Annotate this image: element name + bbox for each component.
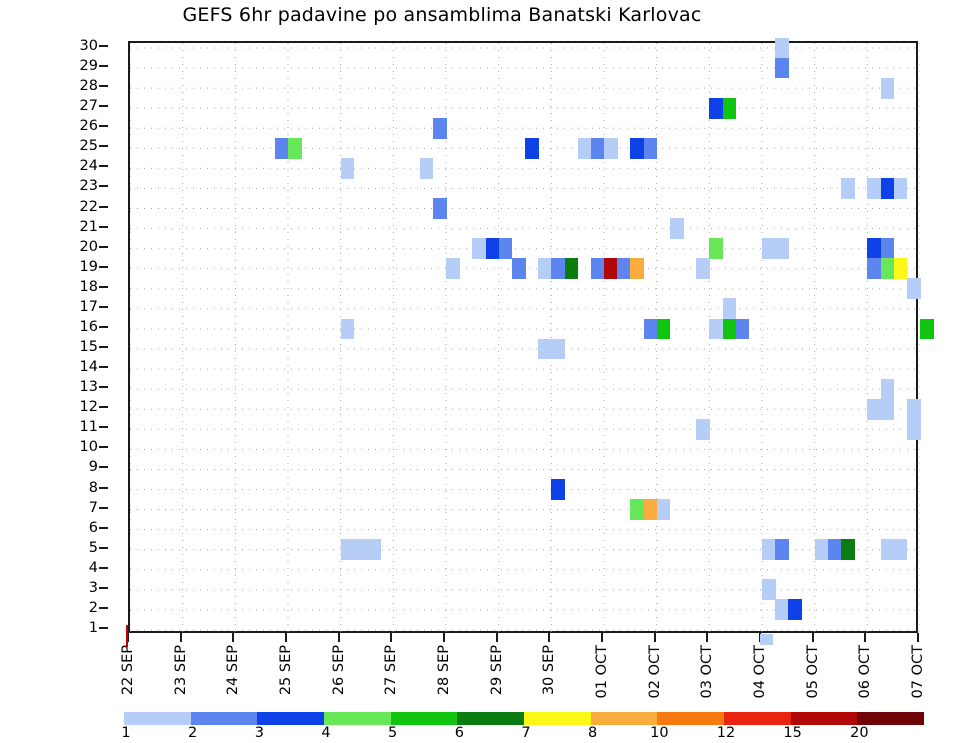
x-tick-label: 23 SEP [174,645,189,695]
colorbar-band [124,712,191,725]
y-tick-mark [99,45,108,47]
colorbar-band [657,712,724,725]
x-tick-mark [706,633,708,642]
y-tick-mark [99,85,108,87]
colorbar-tick-label: 2 [188,726,197,741]
y-tick-mark [99,326,108,328]
y-tick-label: 21 [80,219,98,234]
heatmap-cell [709,319,723,340]
axis-cell-marker [760,634,773,645]
colorbar-tick-label: 7 [521,726,530,741]
y-tick-label: 24 [80,159,98,174]
y-tick-mark [99,145,108,147]
y-tick-mark [99,125,108,127]
y-tick-mark [99,406,108,408]
heatmap-cell [354,539,368,560]
y-tick-mark [99,426,108,428]
heatmap-cell [841,539,855,560]
chart-title: GEFS 6hr padavine po ansamblima Banatski… [0,4,922,26]
heatmap-cell [881,399,895,420]
heatmap-cell [617,258,631,279]
heatmap-cell [538,339,552,360]
y-tick-label: 20 [80,239,98,254]
y-tick-label: 3 [89,581,98,596]
heatmap-cell [433,118,447,139]
heatmap-cell [512,258,526,279]
heatmap-cell [472,238,486,259]
x-tick-label: 29 SEP [490,645,505,695]
colorbar-tick-label: 10 [650,726,668,741]
x-tick-label: 07 OCT [911,645,926,698]
x-tick-label: 27 SEP [384,645,399,695]
x-tick-mark [443,633,445,642]
colorbar-band [324,712,391,725]
heatmap-cell [881,379,895,400]
y-tick-label: 17 [80,300,98,315]
heatmap-cell [525,138,539,159]
colorbar-legend: 1234567810121520 [124,712,924,742]
y-tick-mark [99,105,108,107]
y-tick-label: 13 [80,380,98,395]
x-tick-mark [180,633,182,642]
heatmap-cell [828,539,842,560]
x-tick-mark [601,633,603,642]
y-tick-mark [99,286,108,288]
y-tick-mark [99,547,108,549]
colorbar-band [524,712,591,725]
y-tick-mark [99,185,108,187]
x-tick-label: 01 OCT [595,645,610,698]
y-tick-mark [99,346,108,348]
y-tick-mark [99,306,108,308]
y-tick-mark [99,446,108,448]
heatmap-cell [644,138,658,159]
y-tick-label: 29 [80,59,98,74]
y-tick-mark [99,507,108,509]
colorbar-tick-label: 15 [783,726,801,741]
heatmap-cell [709,98,723,119]
y-tick-mark [99,627,108,629]
y-tick-mark [99,487,108,489]
y-tick-label: 16 [80,320,98,335]
y-tick-label: 19 [80,260,98,275]
heatmap-cell [446,258,460,279]
colorbar-tick-label: 5 [388,726,397,741]
heatmap-cell [578,138,592,159]
heatmap-cell [775,238,789,259]
heatmap-cell [841,178,855,199]
x-tick-label: 03 OCT [700,645,715,698]
x-tick-label: 02 OCT [648,645,663,698]
heatmap-cell [644,319,658,340]
colorbar-band [857,712,924,725]
colorbar-band [591,712,658,725]
heatmap-cell [630,499,644,520]
y-tick-label: 27 [80,99,98,114]
heatmap-cell [565,258,579,279]
heatmap-cell [604,138,618,159]
heatmap-cells [130,43,916,631]
heatmap-cell [630,138,644,159]
y-tick-label: 10 [80,440,98,455]
heatmap-cell [920,319,934,340]
heatmap-cell [551,339,565,360]
heatmap-cell [894,539,908,560]
colorbar-band [791,712,858,725]
colorbar-band [391,712,458,725]
heatmap-cell [341,158,355,179]
heatmap-cell [815,539,829,560]
heatmap-cell [604,258,618,279]
heatmap-cell [736,319,750,340]
heatmap-cell [867,178,881,199]
y-tick-mark [99,165,108,167]
heatmap-cell [907,399,921,420]
x-tick-label: 28 SEP [437,645,452,695]
colorbar-tick-label: 6 [455,726,464,741]
heatmap-cell [894,258,908,279]
heatmap-cell [367,539,381,560]
heatmap-cell [762,238,776,259]
heatmap-cell [591,258,605,279]
heatmap-cell [775,38,789,59]
heatmap-cell [788,599,802,620]
heatmap-cell [775,599,789,620]
y-tick-label: 11 [80,420,98,435]
heatmap-cell [630,258,644,279]
y-tick-mark [99,366,108,368]
heatmap-cell [762,539,776,560]
heatmap-cell [867,399,881,420]
meteogram-chart: GEFS 6hr padavine po ansamblima Banatski… [0,0,960,742]
colorbar-tick-label: 4 [321,726,330,741]
y-tick-mark [99,567,108,569]
x-tick-mark [390,633,392,642]
heatmap-cell [894,178,908,199]
heatmap-cell [723,319,737,340]
heatmap-cell [420,158,434,179]
colorbar-bands [124,712,924,725]
heatmap-cell [696,258,710,279]
heatmap-cell [341,319,355,340]
heatmap-cell [723,98,737,119]
x-tick-mark [496,633,498,642]
heatmap-cell [775,539,789,560]
x-tick-label: 22 SEP [121,645,136,695]
x-tick-mark [654,633,656,642]
x-tick-label: 30 SEP [542,645,557,695]
heatmap-cell [657,499,671,520]
y-tick-label: 4 [89,561,98,576]
y-tick-mark [99,65,108,67]
y-tick-label: 23 [80,179,98,194]
heatmap-cell [775,58,789,79]
colorbar-tick-label: 1 [121,726,130,741]
y-tick-label: 15 [80,340,98,355]
y-tick-mark [99,266,108,268]
heatmap-cell [486,238,500,259]
y-tick-mark [99,246,108,248]
y-tick-mark [99,206,108,208]
heatmap-cell [657,319,671,340]
y-tick-label: 2 [89,601,98,616]
heatmap-cell [433,198,447,219]
x-tick-mark [338,633,340,642]
y-tick-label: 9 [89,460,98,475]
heatmap-cell [867,258,881,279]
heatmap-cell [341,539,355,560]
plot-area [128,41,918,633]
y-tick-label: 14 [80,360,98,375]
y-tick-mark [99,466,108,468]
heatmap-cell [709,238,723,259]
y-tick-label: 22 [80,199,98,214]
y-tick-label: 28 [80,79,98,94]
heatmap-cell [881,258,895,279]
x-tick-mark [864,633,866,642]
y-tick-label: 8 [89,480,98,495]
y-tick-mark [99,587,108,589]
heatmap-cell [907,278,921,299]
y-tick-label: 5 [89,540,98,555]
colorbar-tick-label: 8 [588,726,597,741]
heatmap-cell [644,499,658,520]
y-tick-mark [99,386,108,388]
colorbar-band [724,712,791,725]
heatmap-cell [499,238,513,259]
heatmap-cell [881,238,895,259]
y-axis: 1234567891011121314151617181920212223242… [0,0,128,680]
y-tick-label: 30 [80,39,98,54]
y-tick-label: 6 [89,520,98,535]
origin-red-marker [126,625,128,647]
y-tick-mark [99,226,108,228]
y-tick-label: 18 [80,280,98,295]
colorbar-band [457,712,524,725]
colorbar-tick-label: 12 [717,726,735,741]
colorbar-tick-label: 20 [850,726,868,741]
heatmap-cell [551,479,565,500]
x-tick-mark [917,633,919,642]
heatmap-cell [288,138,302,159]
heatmap-cell [762,579,776,600]
heatmap-cell [551,258,565,279]
heatmap-cell [696,419,710,440]
colorbar-tick-label: 3 [255,726,264,741]
y-tick-mark [99,607,108,609]
heatmap-cell [723,298,737,319]
heatmap-cell [275,138,289,159]
heatmap-cell [538,258,552,279]
heatmap-cell [881,78,895,99]
colorbar-band [191,712,258,725]
x-tick-mark [548,633,550,642]
x-tick-mark [812,633,814,642]
x-tick-label: 05 OCT [806,645,821,698]
x-tick-mark [285,633,287,642]
y-tick-label: 25 [80,139,98,154]
x-tick-label: 24 SEP [226,645,241,695]
x-tick-label: 26 SEP [332,645,347,695]
heatmap-cell [867,238,881,259]
colorbar-band [257,712,324,725]
heatmap-cell [670,218,684,239]
heatmap-cell [907,419,921,440]
y-tick-label: 1 [89,621,98,636]
x-tick-mark [232,633,234,642]
x-tick-label: 06 OCT [858,645,873,698]
y-tick-label: 12 [80,400,98,415]
heatmap-cell [591,138,605,159]
x-tick-label: 25 SEP [279,645,294,695]
heatmap-cell [881,539,895,560]
heatmap-cell [881,178,895,199]
y-tick-mark [99,527,108,529]
x-tick-label: 04 OCT [753,645,768,698]
y-tick-label: 7 [89,500,98,515]
y-tick-label: 26 [80,119,98,134]
